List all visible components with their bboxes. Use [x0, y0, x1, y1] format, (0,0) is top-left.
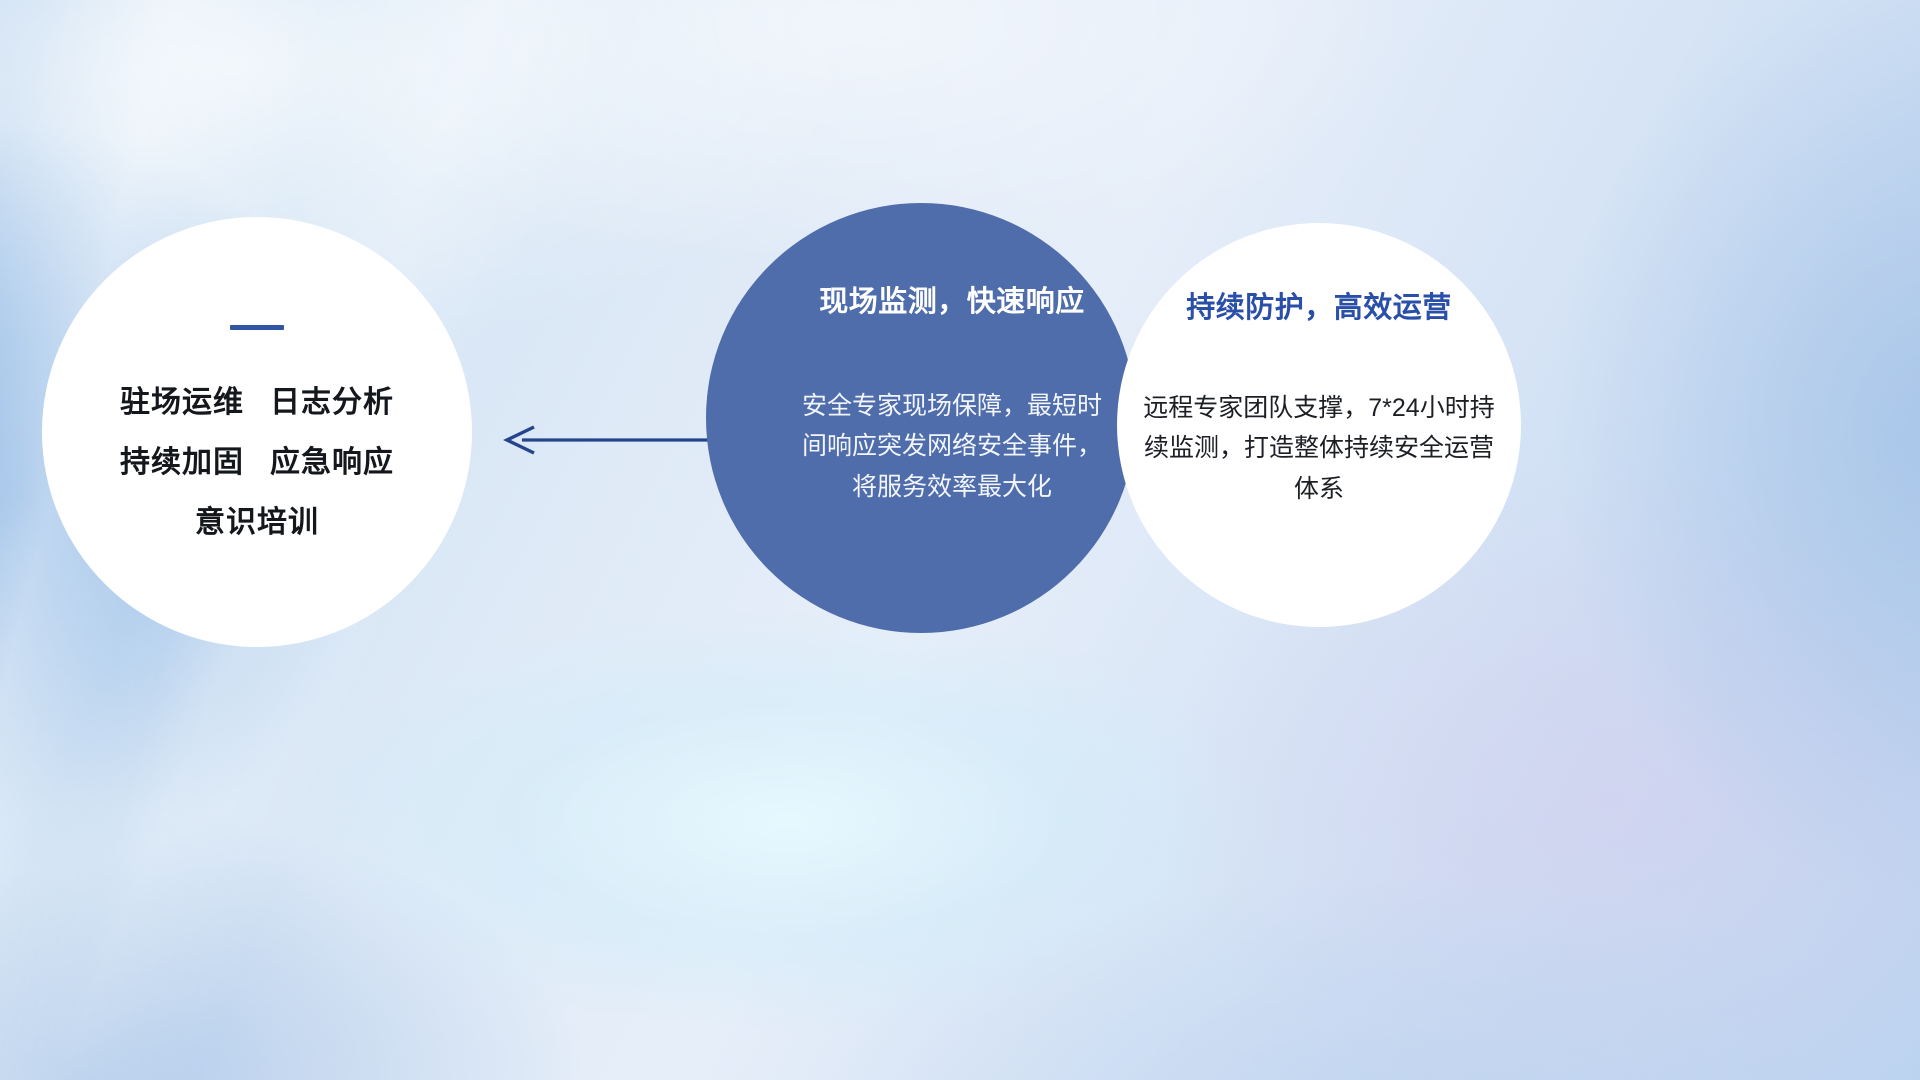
keyword-yishipeixun: 意识培训 [195, 506, 319, 539]
right-circle-body: 远程专家团队支撑，7*24小时持续监测，打造整体持续安全运营体系 [1141, 388, 1497, 510]
divider-dash-icon [230, 325, 284, 330]
keyword-rizhifenxi: 日志分析 [270, 386, 394, 419]
list-item: 驻场运维日志分析 [120, 386, 394, 419]
right-circle-title: 持续防护，高效运营 [1186, 291, 1452, 326]
keyword-yingjixiangying: 应急响应 [270, 446, 394, 479]
list-item: 持续加固应急响应 [120, 446, 394, 479]
middle-onsite-circle: 现场监测，快速响应 安全专家现场保障，最短时间响应突发网络安全事件，将服务效率最… [706, 203, 1136, 633]
left-circle-keyword-list: 驻场运维日志分析 持续加固应急响应 意识培训 [120, 386, 394, 539]
keyword-zhuchangyunwei: 驻场运维 [120, 386, 244, 419]
keyword-chixujiagu: 持续加固 [120, 446, 244, 479]
connector-arrow-icon [494, 420, 710, 460]
middle-circle-body: 安全专家现场保障，最短时间响应突发网络安全事件，将服务效率最大化 [791, 386, 1113, 508]
middle-circle-title: 现场监测，快速响应 [819, 285, 1085, 320]
right-continuous-circle: 持续防护，高效运营 远程专家团队支撑，7*24小时持续监测，打造整体持续安全运营… [1117, 223, 1521, 627]
diagram-stage: 驻场运维日志分析 持续加固应急响应 意识培训 现场监测，快速响应 安全专家现场保… [0, 0, 1920, 1080]
left-service-circle: 驻场运维日志分析 持续加固应急响应 意识培训 [42, 217, 472, 647]
middle-circle-content: 现场监测，快速响应 安全专家现场保障，最短时间响应突发网络安全事件，将服务效率最… [706, 203, 1136, 633]
list-item: 意识培训 [195, 506, 319, 539]
